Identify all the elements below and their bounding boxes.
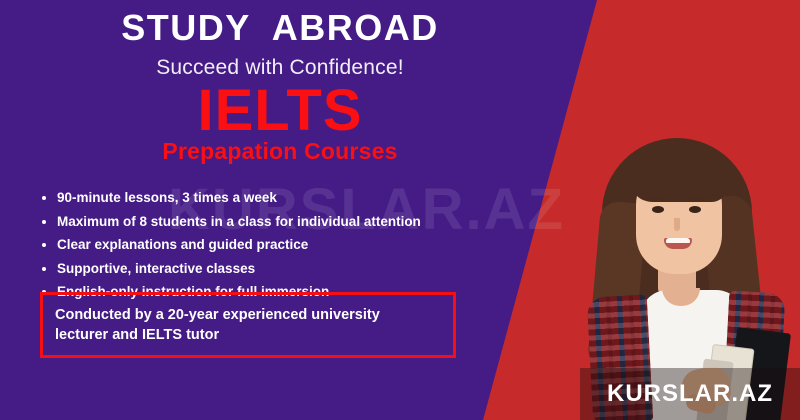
page-title: STUDY ABROAD <box>0 9 560 48</box>
corner-watermark-badge: KURSLAR.AZ <box>580 368 800 420</box>
corner-watermark-text: KURSLAR.AZ <box>607 380 773 408</box>
list-item: Maximum of 8 students in a class for ind… <box>40 212 421 233</box>
instructor-callout-box: Conducted by a 20-year experienced unive… <box>40 292 456 358</box>
teeth <box>666 238 690 243</box>
hair-fringe <box>630 152 728 202</box>
list-item: 90-minute lessons, 3 times a week <box>40 188 421 209</box>
brand-title: IELTS <box>0 81 560 140</box>
headline-block: STUDY ABROAD Succeed with Confidence! IE… <box>0 0 560 165</box>
eye-right <box>689 206 701 213</box>
eye-left <box>652 206 664 213</box>
headline-subtitle: Succeed with Confidence! <box>0 56 560 80</box>
list-item: Clear explanations and guided practice <box>40 235 421 256</box>
ielts-promo-banner: KURSLAR.AZ STUDY ABROAD Succeed with Con… <box>0 0 800 420</box>
instructor-callout-text: Conducted by a 20-year experienced unive… <box>43 305 425 345</box>
nose <box>674 218 680 231</box>
list-item: Supportive, interactive classes <box>40 259 421 280</box>
features-list: 90-minute lessons, 3 times a week Maximu… <box>40 188 421 306</box>
brand-subtitle: Prepapation Courses <box>0 138 560 165</box>
